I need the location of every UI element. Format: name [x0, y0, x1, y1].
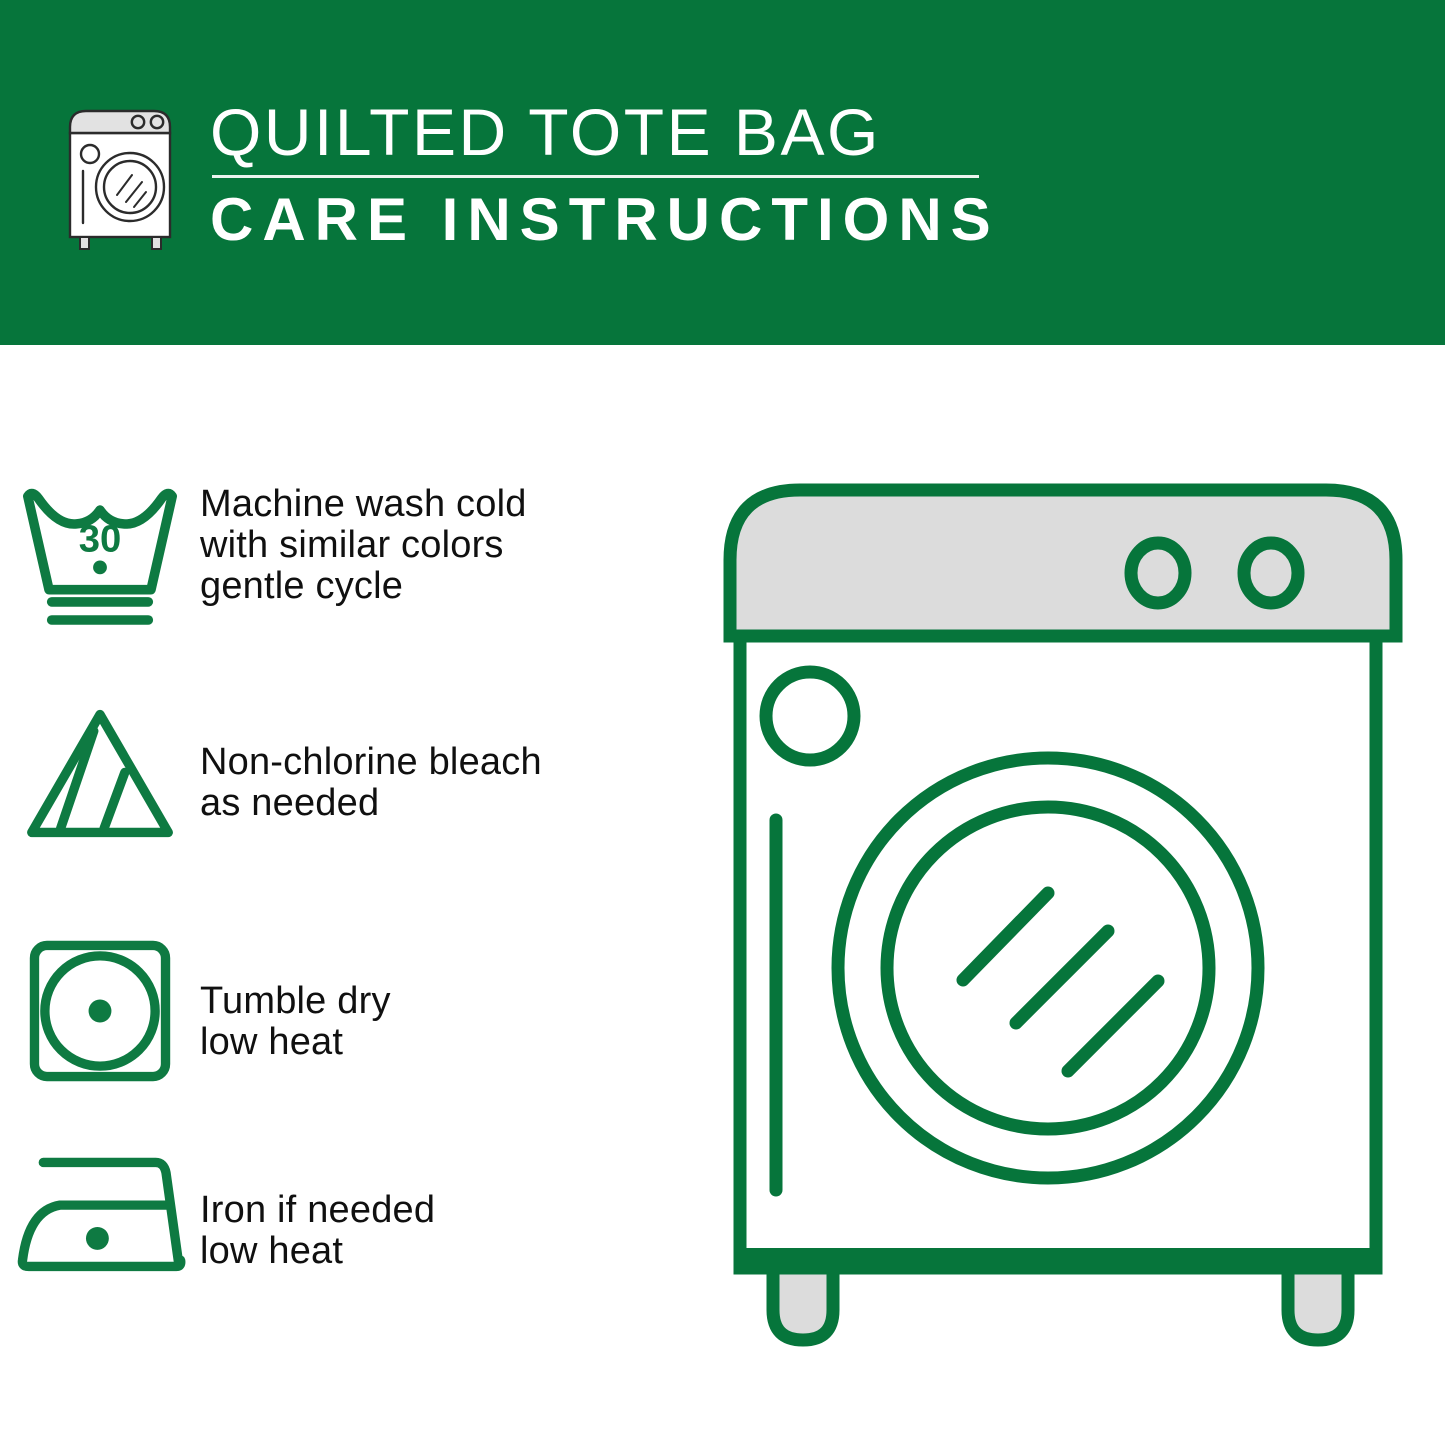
- care-line: low heat: [200, 1231, 435, 1272]
- page-title: QUILTED TOTE BAG: [210, 95, 1050, 169]
- care-line: Iron if needed: [200, 1190, 435, 1231]
- care-line: gentle cycle: [200, 566, 527, 607]
- care-line: Tumble dry: [200, 981, 391, 1022]
- door-inner-ring: [887, 807, 1209, 1129]
- wash-tub-30-gentle-icon: 30: [0, 475, 200, 629]
- title-divider: [212, 175, 979, 178]
- care-text-machine-wash: Machine wash cold with similar colors ge…: [200, 475, 527, 607]
- indicator-light: [766, 672, 854, 760]
- care-row-iron: Iron if needed low heat: [0, 1150, 700, 1280]
- machine-base-rail: [740, 1248, 1376, 1270]
- care-text-iron: Iron if needed low heat: [200, 1150, 435, 1272]
- care-row-bleach: Non-chlorine bleach as needed: [0, 700, 700, 850]
- header-title-group: QUILTED TOTE BAG CARE INSTRUCTIONS: [210, 95, 1050, 254]
- machine-leg-left: [773, 1268, 833, 1340]
- page-subtitle: CARE INSTRUCTIONS: [210, 186, 1050, 254]
- washing-machine-icon: [62, 103, 184, 253]
- care-line: with similar colors: [200, 525, 527, 566]
- non-chlorine-bleach-triangle-icon: [0, 700, 200, 850]
- iron-low-heat-icon: [0, 1150, 200, 1280]
- machine-leg-right: [1288, 1268, 1348, 1340]
- washing-machine-illustration: [718, 468, 1408, 1368]
- care-row-tumble-dry: Tumble dry low heat: [0, 933, 700, 1089]
- header-content: QUILTED TOTE BAG CARE INSTRUCTIONS: [62, 95, 1012, 265]
- care-text-bleach: Non-chlorine bleach as needed: [200, 700, 542, 824]
- control-knob-right: [1244, 543, 1298, 603]
- care-text-tumble-dry: Tumble dry low heat: [200, 933, 391, 1063]
- tumble-dry-low-heat-icon: [0, 933, 200, 1089]
- care-row-machine-wash: 30 Machine wash cold with similar colors…: [0, 475, 700, 629]
- care-line: as needed: [200, 783, 542, 824]
- header-band: QUILTED TOTE BAG CARE INSTRUCTIONS: [0, 0, 1445, 345]
- care-instruction-list: 30 Machine wash cold with similar colors…: [0, 345, 720, 1445]
- care-line: low heat: [200, 1022, 391, 1063]
- care-line: Machine wash cold: [200, 484, 527, 525]
- care-line: Non-chlorine bleach: [200, 742, 542, 783]
- wash-temperature-label: 30: [79, 517, 122, 560]
- control-knob-left: [1131, 543, 1185, 603]
